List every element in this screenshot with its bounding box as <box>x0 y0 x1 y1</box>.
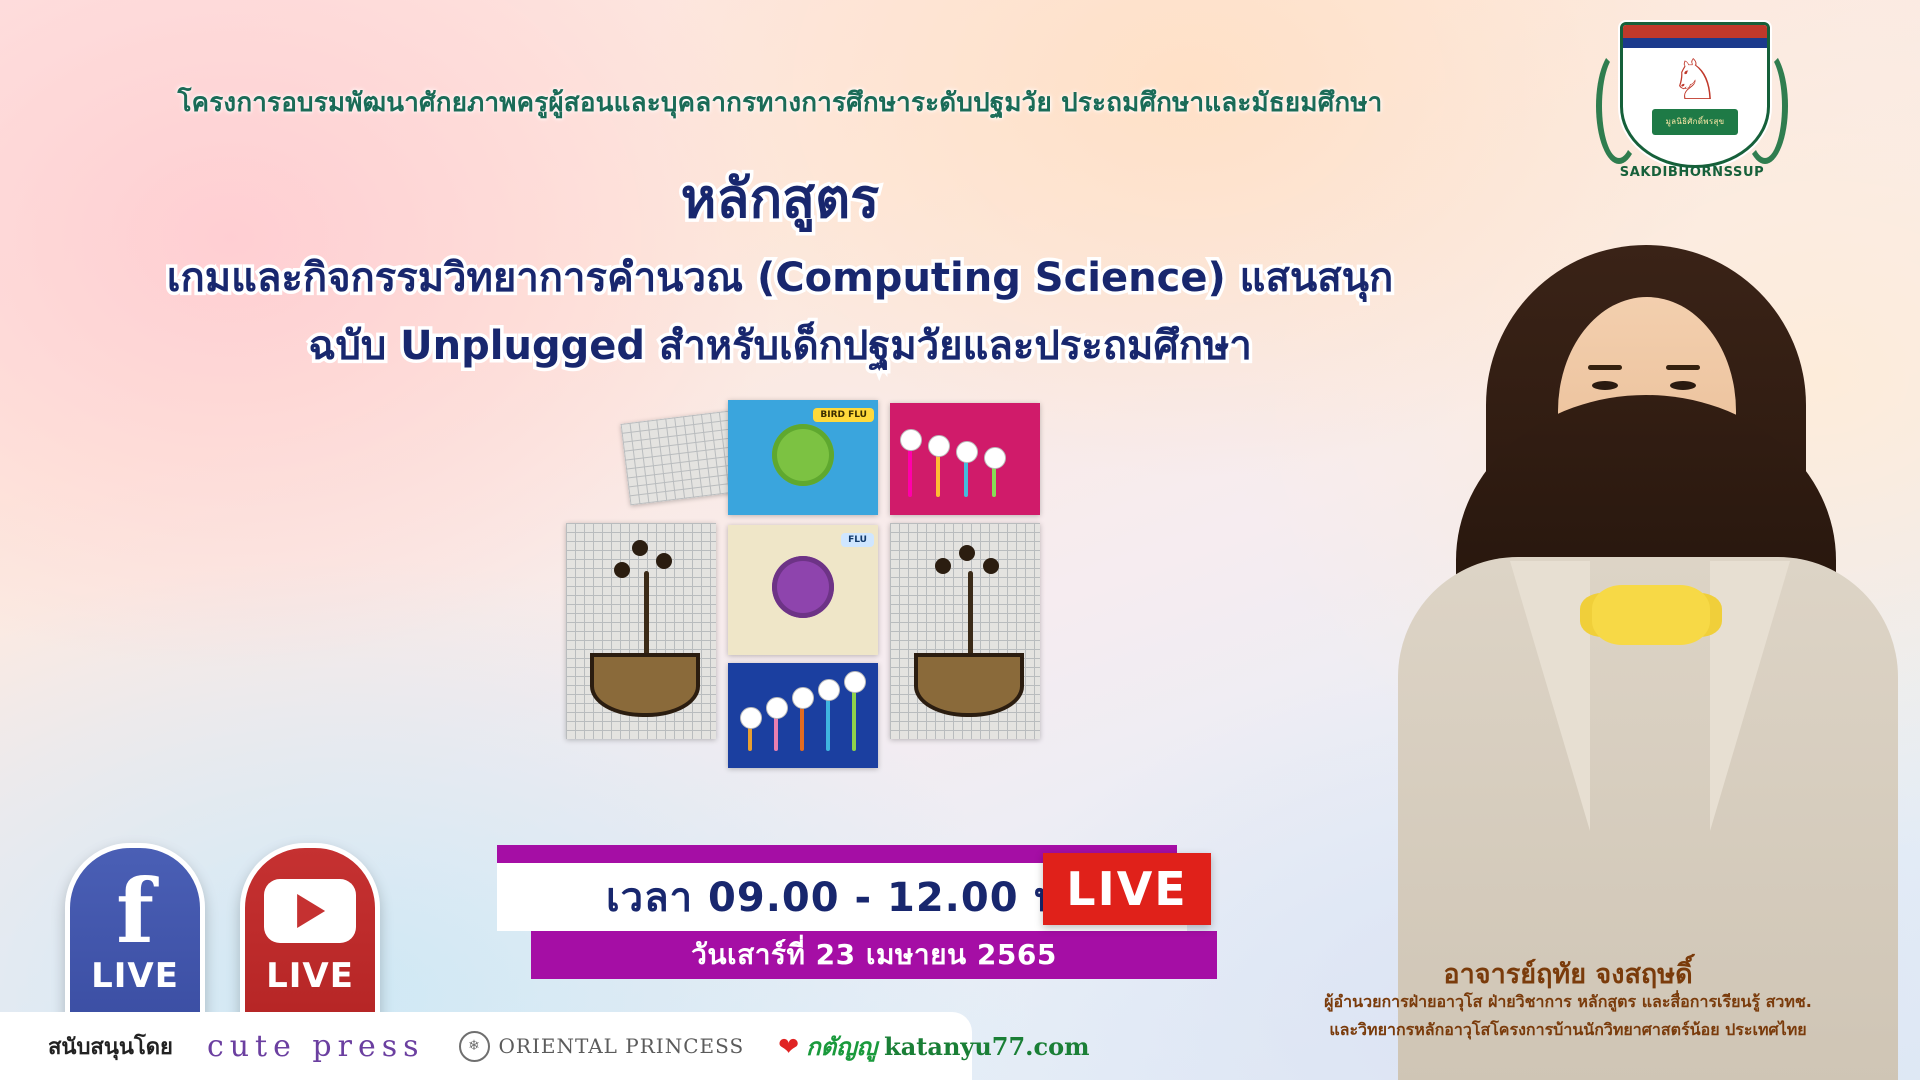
speaker-lapel-right <box>1710 561 1790 831</box>
promotional-poster: ♘ มูลนิธิศักดิ์พรสุข SAKDIBHORNSSUP โครง… <box>0 0 1920 1080</box>
speaker-eye-left <box>1592 381 1618 390</box>
speaker-lapel-left <box>1510 561 1590 831</box>
sponsor-katanyu-url: katanyu77.com <box>884 1032 1089 1061</box>
laurel-right-icon <box>1742 48 1788 164</box>
speaker-eye-right <box>1670 381 1696 390</box>
speaker-brow-left <box>1588 365 1622 370</box>
speaker-credit-line-2: และวิทยากรหลักอาวุโสโครงการบ้านนักวิทยาศ… <box>1258 1018 1878 1043</box>
speaker-name: อาจารย์ฤทัย จงสฤษดิ์ <box>1258 952 1878 995</box>
facebook-live-button[interactable]: f LIVE <box>65 843 205 1033</box>
page-title: หลักสูตร <box>0 155 1560 241</box>
flower-emblem-icon: ❄ <box>459 1031 490 1062</box>
pixel-flower-grid-right-photo <box>890 523 1040 739</box>
blue-board-lollipop-chart-photo <box>728 663 878 768</box>
sponsor-bar: สนับสนุนโดย cute press ❄ ORIENTAL PRINCE… <box>0 1012 972 1080</box>
live-badge-label: LIVE <box>1066 862 1187 916</box>
sponsor-katanyu-thai-label: กตัญญู <box>806 1027 877 1066</box>
purple-creature-icon <box>772 556 834 618</box>
pixel-flower-drawing <box>890 523 1040 739</box>
pixel-flower-grid-left-photo <box>566 523 716 739</box>
facebook-live-label: LIVE <box>91 956 179 996</box>
sponsor-oriental-princess: ❄ ORIENTAL PRINCESS <box>459 1031 745 1062</box>
sponsor-label: สนับสนุนโดย <box>48 1029 173 1064</box>
horse-icon: ♘ <box>1670 53 1720 109</box>
speaker-portrait <box>1360 205 1920 1080</box>
sponsor-katanyu: ❤ กตัญญู katanyu77.com <box>778 1027 1089 1066</box>
youtube-live-button[interactable]: LIVE <box>240 843 380 1033</box>
program-kicker: โครงการอบรมพัฒนาศักยภาพครูผู้สอนและบุคลา… <box>0 82 1560 123</box>
course-title-line-2: ฉบับ Unplugged สำหรับเด็กปฐมวัยและประถมศ… <box>0 313 1560 377</box>
speaker-bow <box>1592 585 1710 645</box>
speaker-credit-line-1: ผู้อำนวยการฝ่ายอาวุโส ฝ่ายวิชาการ หลักสู… <box>1258 990 1878 1015</box>
flu-badge: FLU <box>841 533 874 547</box>
pink-board-craft-photo <box>890 403 1040 515</box>
laurel-left-icon <box>1596 48 1642 164</box>
date-text: วันเสาร์ที่ 23 เมษายน 2565 <box>691 933 1057 977</box>
facebook-icon: f <box>116 870 154 952</box>
course-title-line-1: เกมและกิจกรรมวิทยาการคำนวณ (Computing Sc… <box>0 245 1560 309</box>
purple-creature-craft-photo: FLU <box>728 525 878 655</box>
organization-logo: ♘ มูลนิธิศักดิ์พรสุข SAKDIBHORNSSUP <box>1592 14 1792 194</box>
time-text: เวลา 09.00 - 12.00 น. <box>606 865 1078 929</box>
youtube-icon <box>264 870 356 952</box>
shield-blue-band <box>1623 38 1767 48</box>
green-creature-craft-photo: BIRD FLU <box>728 400 878 515</box>
logo-inner-text: มูลนิธิศักดิ์พรสุข <box>1652 109 1738 135</box>
shield-red-band <box>1623 25 1767 38</box>
live-badge: LIVE <box>1043 853 1211 925</box>
speaker-brow-right <box>1666 365 1700 370</box>
logo-name: SAKDIBHORNSSUP <box>1592 165 1792 180</box>
date-plate: วันเสาร์ที่ 23 เมษายน 2565 <box>531 931 1217 979</box>
heart-icon: ❤ <box>778 1032 799 1061</box>
youtube-live-label: LIVE <box>266 956 354 996</box>
pixel-flower-drawing <box>566 523 716 739</box>
sponsor-oriental-princess-label: ORIENTAL PRINCESS <box>499 1034 745 1058</box>
sponsor-cutepress-logo: cute press <box>207 1029 425 1064</box>
photo-collage: BIRD FLU FLU <box>600 405 1100 785</box>
bird-flu-badge: BIRD FLU <box>813 408 874 422</box>
green-creature-icon <box>772 424 834 486</box>
